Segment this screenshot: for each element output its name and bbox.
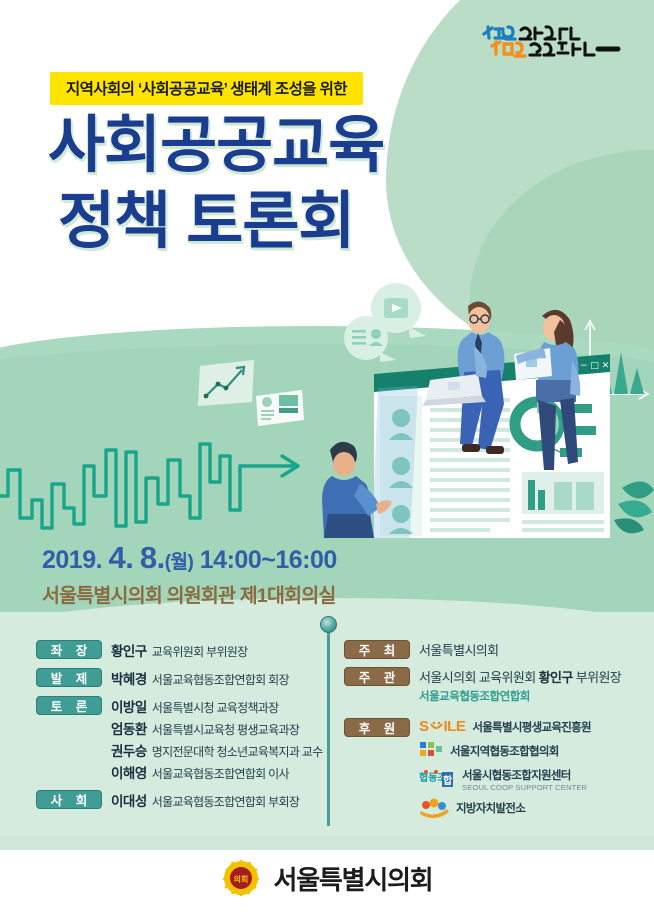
sponsor-item-local-autonomy: 지방자치발전소 [419,798,591,818]
person-name: 이대성 [111,790,147,810]
title-line-2: 정책 토론회 [58,184,528,260]
sponsor-list: SMILES ILE 서울특별시평생교육진흥원 [419,718,591,824]
page-title: 사회공공교육 정책 토론회 [48,108,528,260]
event-place: 서울특별시의회 의원회관 제1대회의실 [42,579,337,608]
person-role: 명지전문대학 청소년교육복지과 교수 [152,743,323,760]
list-item: 권두승 명지전문대학 청소년교육복지과 교수 [111,740,322,760]
program-row-discussant-3: 권두승 명지전문대학 청소년교육복지과 교수 [36,740,322,760]
organizer-label-host: 주 최 [344,640,410,659]
list-item: 황인구 교육위원회 부위원장 [111,640,247,660]
sponsor-name: 서울특별시평생교육진흥원 [472,719,591,735]
program-row-moderator: 사 회 이대성 서울교육협동조합연합회 부회장 [36,790,322,810]
sponsor-name: 서울지역협동조합협의회 [450,743,559,759]
seoul-council-emblem: 의회 [221,858,261,898]
organizer-manage-person: 황인구 [539,670,573,685]
emblem-text: 의회 [234,874,249,884]
program-row-presenter: 발 제 박혜경 서울교육협동조합연합회 회장 [36,668,322,688]
person-role: 서울교육협동조합연합회 회장 [152,671,289,688]
coop-support-icon: 협동조 합 [419,768,455,792]
event-year: 2019. [42,546,102,574]
list-item: 이해영 서울교육협동조합연합회 이사 [111,762,289,782]
person-name: 이방일 [111,696,147,716]
seoul-edu-coop-union-logo: 서울교육협동조합연합회 [419,688,644,704]
wave-path [0,444,294,528]
seoul-coop-council-icon [419,741,443,761]
program-row-discussant-1: 토 론 이방일 서울특별시청 교육정책과장 [36,696,322,716]
list-item: 박혜경 서울교육협동조합연합회 회장 [111,668,289,688]
list-item: 엄동환 서울특별시교육청 평생교육과장 [111,718,299,738]
person-name: 엄동환 [111,718,147,738]
footer-strip [0,836,654,850]
person-name: 황인구 [111,640,147,660]
program-list: 좌 장 황인구 교육위원회 부위원장 발 제 박혜경 서울교육협동조합연합회 회… [36,640,322,818]
organizer-label-sponsor: 후 원 [344,718,410,737]
public-education-illustration: − □ ✕ [322,276,654,538]
person-role: 서울특별시청 교육정책과장 [152,699,279,716]
program-row-discussant-2: 엄동환 서울특별시교육청 평생교육과장 [36,718,322,738]
sponsor-item-smile: SMILES ILE 서울특별시평생교육진흥원 [419,718,591,735]
panel-divider [327,628,330,826]
seoul-brand-slogan-icon [476,22,636,66]
smile-wordmark: SMILES ILE [419,718,465,735]
smile-logo-icon: SMILES ILE [419,718,465,735]
program-label-moderator: 사 회 [36,790,102,809]
organizer-row-host: 주 최 서울특별시의회 [344,640,644,659]
person-role: 서울교육협동조합연합회 부회장 [152,793,299,810]
person-role: 교육위원회 부위원장 [152,643,248,660]
sponsor-name-en: SEOUL COOP SUPPORT CENTER [462,783,587,792]
line-chart-card-icon [196,358,258,410]
organizer-label-manage: 주 관 [344,667,410,686]
event-datetime: 2019. 4. 8.(월) 14:00~16:00 [42,540,337,576]
svg-text:합: 합 [443,774,453,787]
window-controls-label: − □ ✕ [580,361,609,371]
sponsor-item-coop-council: 서울지역협동조합협의회 [419,741,591,761]
footer: 의회 서울특별시의회 [0,858,654,898]
event-weekday: (월) [165,552,194,573]
local-autonomy-icon [419,798,449,818]
list-item: 이방일 서울특별시청 교육정책과장 [111,696,278,716]
poster-root: 지역사회의 ‘사회공공교육’ 생태계 조성을 위한 사회공공교육 정책 토론회 [0,0,654,921]
person-name: 박혜경 [111,668,147,688]
program-row-chair: 좌 장 황인구 교육위원회 부위원장 [36,640,322,660]
panel-divider-knob [320,616,337,633]
title-line-1: 사회공공교육 [48,108,528,184]
event-day: 8. [140,540,165,575]
sponsor-name: 서울시협동조합지원센터 [462,767,587,783]
document-card-icon [254,388,306,428]
program-row-discussant-4: 이해영 서울교육협동조합연합회 이사 [36,762,322,782]
person-role: 서울특별시교육청 평생교육과장 [152,721,299,738]
person-role: 서울교육협동조합연합회 이사 [152,765,289,782]
organizer-row-manage: 주 관 서울시의회 교육위원회 황인구 부위원장 [344,667,644,686]
schedule-block: 2019. 4. 8.(월) 14:00~16:00 서울특별시의회 의원회관 … [42,540,337,608]
subtitle-text: 지역사회의 ‘사회공공교육’ 생태계 조성을 위한 [66,77,347,99]
program-label-presenter: 발 제 [36,668,102,687]
person-name: 권두승 [111,740,147,760]
sponsor-name-group: 서울시협동조합지원센터 SEOUL COOP SUPPORT CENTER [462,767,587,792]
program-label-chair: 좌 장 [36,640,102,659]
list-item: 이대성 서울교육협동조합연합회 부회장 [111,790,299,810]
subtitle-banner: 지역사회의 ‘사회공공교육’ 생태계 조성을 위한 [50,72,363,105]
event-month: 4. [109,540,134,575]
seoul-brand-slogan [476,22,636,66]
event-time: 14:00~16:00 [200,546,337,574]
leaf-decoration-icon [614,481,654,533]
seoul-edu-coop-union-logo-text: 서울교육협동조합연합회 [419,691,530,703]
organizer-list: 주 최 서울특별시의회 주 관 서울시의회 교육위원회 황인구 부위원장 서울교… [344,640,644,832]
sponsor-item-coop-support: 협동조 합 서울시협동조합지원센터 SEOUL COOP SUPPORT CEN… [419,767,591,792]
organizer-row-sponsor: 후 원 SMILES ILE 서울특별시평생 [344,718,644,824]
person-name: 이해영 [111,762,147,782]
organizer-manage-value: 서울시의회 교육위원회 황인구 부위원장 [419,667,621,686]
organizer-host-value: 서울특별시의회 [419,640,499,659]
program-label-discussion: 토 론 [36,696,102,715]
footer-organization-name: 서울특별시의회 [273,860,432,897]
sponsor-name: 지방자치발전소 [456,800,525,816]
